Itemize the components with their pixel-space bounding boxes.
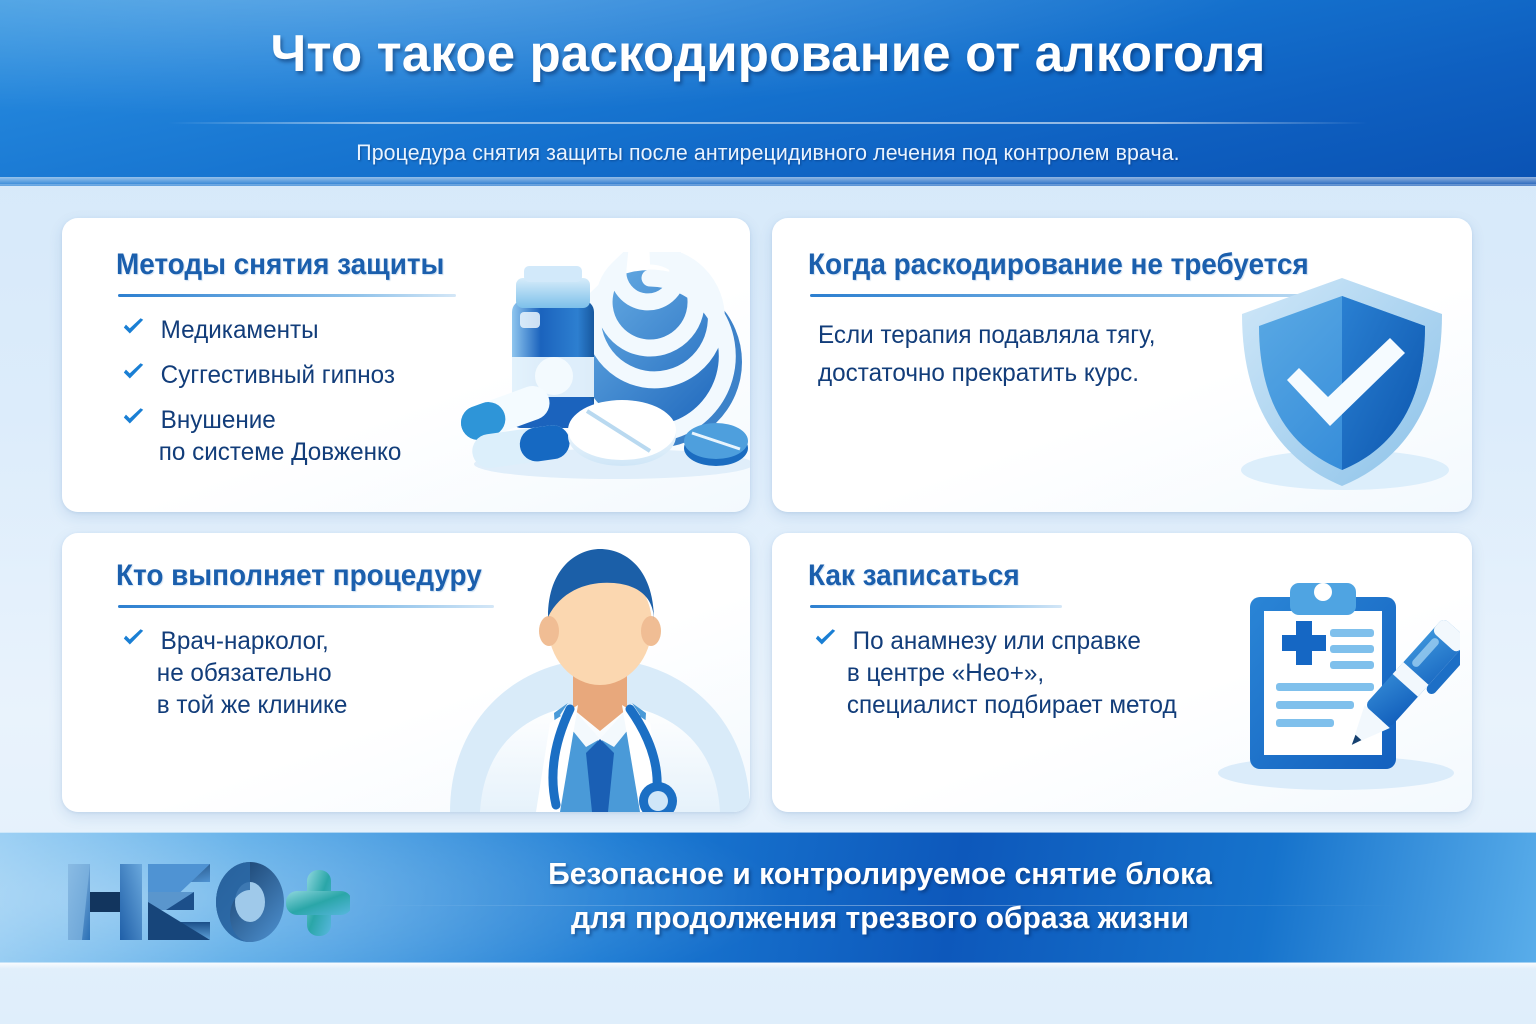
card-not-required: Когда раскодирование не требуется Если т… [772,218,1472,512]
clipboard-pen-illustration [1212,575,1460,793]
list-item: Внушение по системе Довженко [118,404,467,468]
page-subtitle: Процедура снятия защиты после антирециди… [23,140,1513,166]
card-who-performs: Кто выполняет процедуру Врач-нарколог, н… [62,533,750,812]
list-item-label: По анамнезу или справке [853,627,1141,655]
card-how-to-book-bullets: По анамнезу или справке в центре «Нео+»,… [810,625,1230,734]
card-how-to-book: Как записаться По анамнезу или справке в… [772,533,1472,812]
logo-letter-o [216,862,284,942]
list-item: Суггестивный гипноз [118,359,467,391]
infographic-poster: Что такое раскодирование от алкоголя Про… [0,0,1536,1024]
card-how-to-book-title-rule [810,605,1062,608]
list-item-label: Врач-нарколог, [161,627,329,655]
list-item-sublabel-3: специалист подбирает метод [847,689,1218,721]
logo-plus-icon [286,870,350,936]
check-icon [122,629,145,647]
card-not-required-text: Если терапия подавляла тягу, достаточно … [818,316,1245,392]
check-icon [122,318,145,336]
list-item-sublabel-2: в центре «Нео+», [847,657,1218,689]
check-icon [122,408,145,426]
pills-and-spiral-illustration [454,252,750,484]
check-icon [814,629,837,647]
shield-check-illustration [1227,274,1457,496]
paragraph-line-2: достаточно прекратить курс. [818,354,1245,392]
doctor-illustration [410,547,750,812]
paragraph-line-1: Если терапия подавляла тягу, [818,316,1245,354]
card-methods-bullets: Медикаменты Суггестивный гипноз Внушение… [118,314,478,481]
footer-tagline-line-1: Безопасное и контролируемое снятие блока [366,852,1394,896]
card-how-to-book-title: Как записаться [808,559,1020,593]
header-divider [168,122,1368,124]
card-methods-title-rule [118,294,456,297]
logo-letter-n [68,864,142,940]
card-methods-title: Методы снятия защиты [116,248,444,282]
list-item: Врач-нарколог, не обязательно в той же к… [118,625,458,721]
header-banner: Что такое раскодирование от алкоголя Про… [0,0,1536,186]
list-item-sublabel: по системе Довженко [159,436,467,468]
neo-plus-logo [60,856,350,948]
list-item-label: Суггестивный гипноз [161,361,395,389]
list-item-label: Внушение [161,406,276,434]
card-methods: Методы снятия защиты Медикаменты Суггест… [62,218,750,512]
footer-tagline: Безопасное и контролируемое снятие блока… [366,852,1394,940]
footer-tagline-line-2: для продолжения трезвого образа жизни [366,896,1394,940]
list-item: Медикаменты [118,314,467,346]
logo-letter-e [148,864,210,940]
page-title: Что такое раскодирование от алкоголя [15,24,1520,84]
list-item: По анамнезу или справке в центре «Нео+»,… [810,625,1217,721]
list-item-label: Медикаменты [161,316,319,344]
check-icon [122,363,145,381]
